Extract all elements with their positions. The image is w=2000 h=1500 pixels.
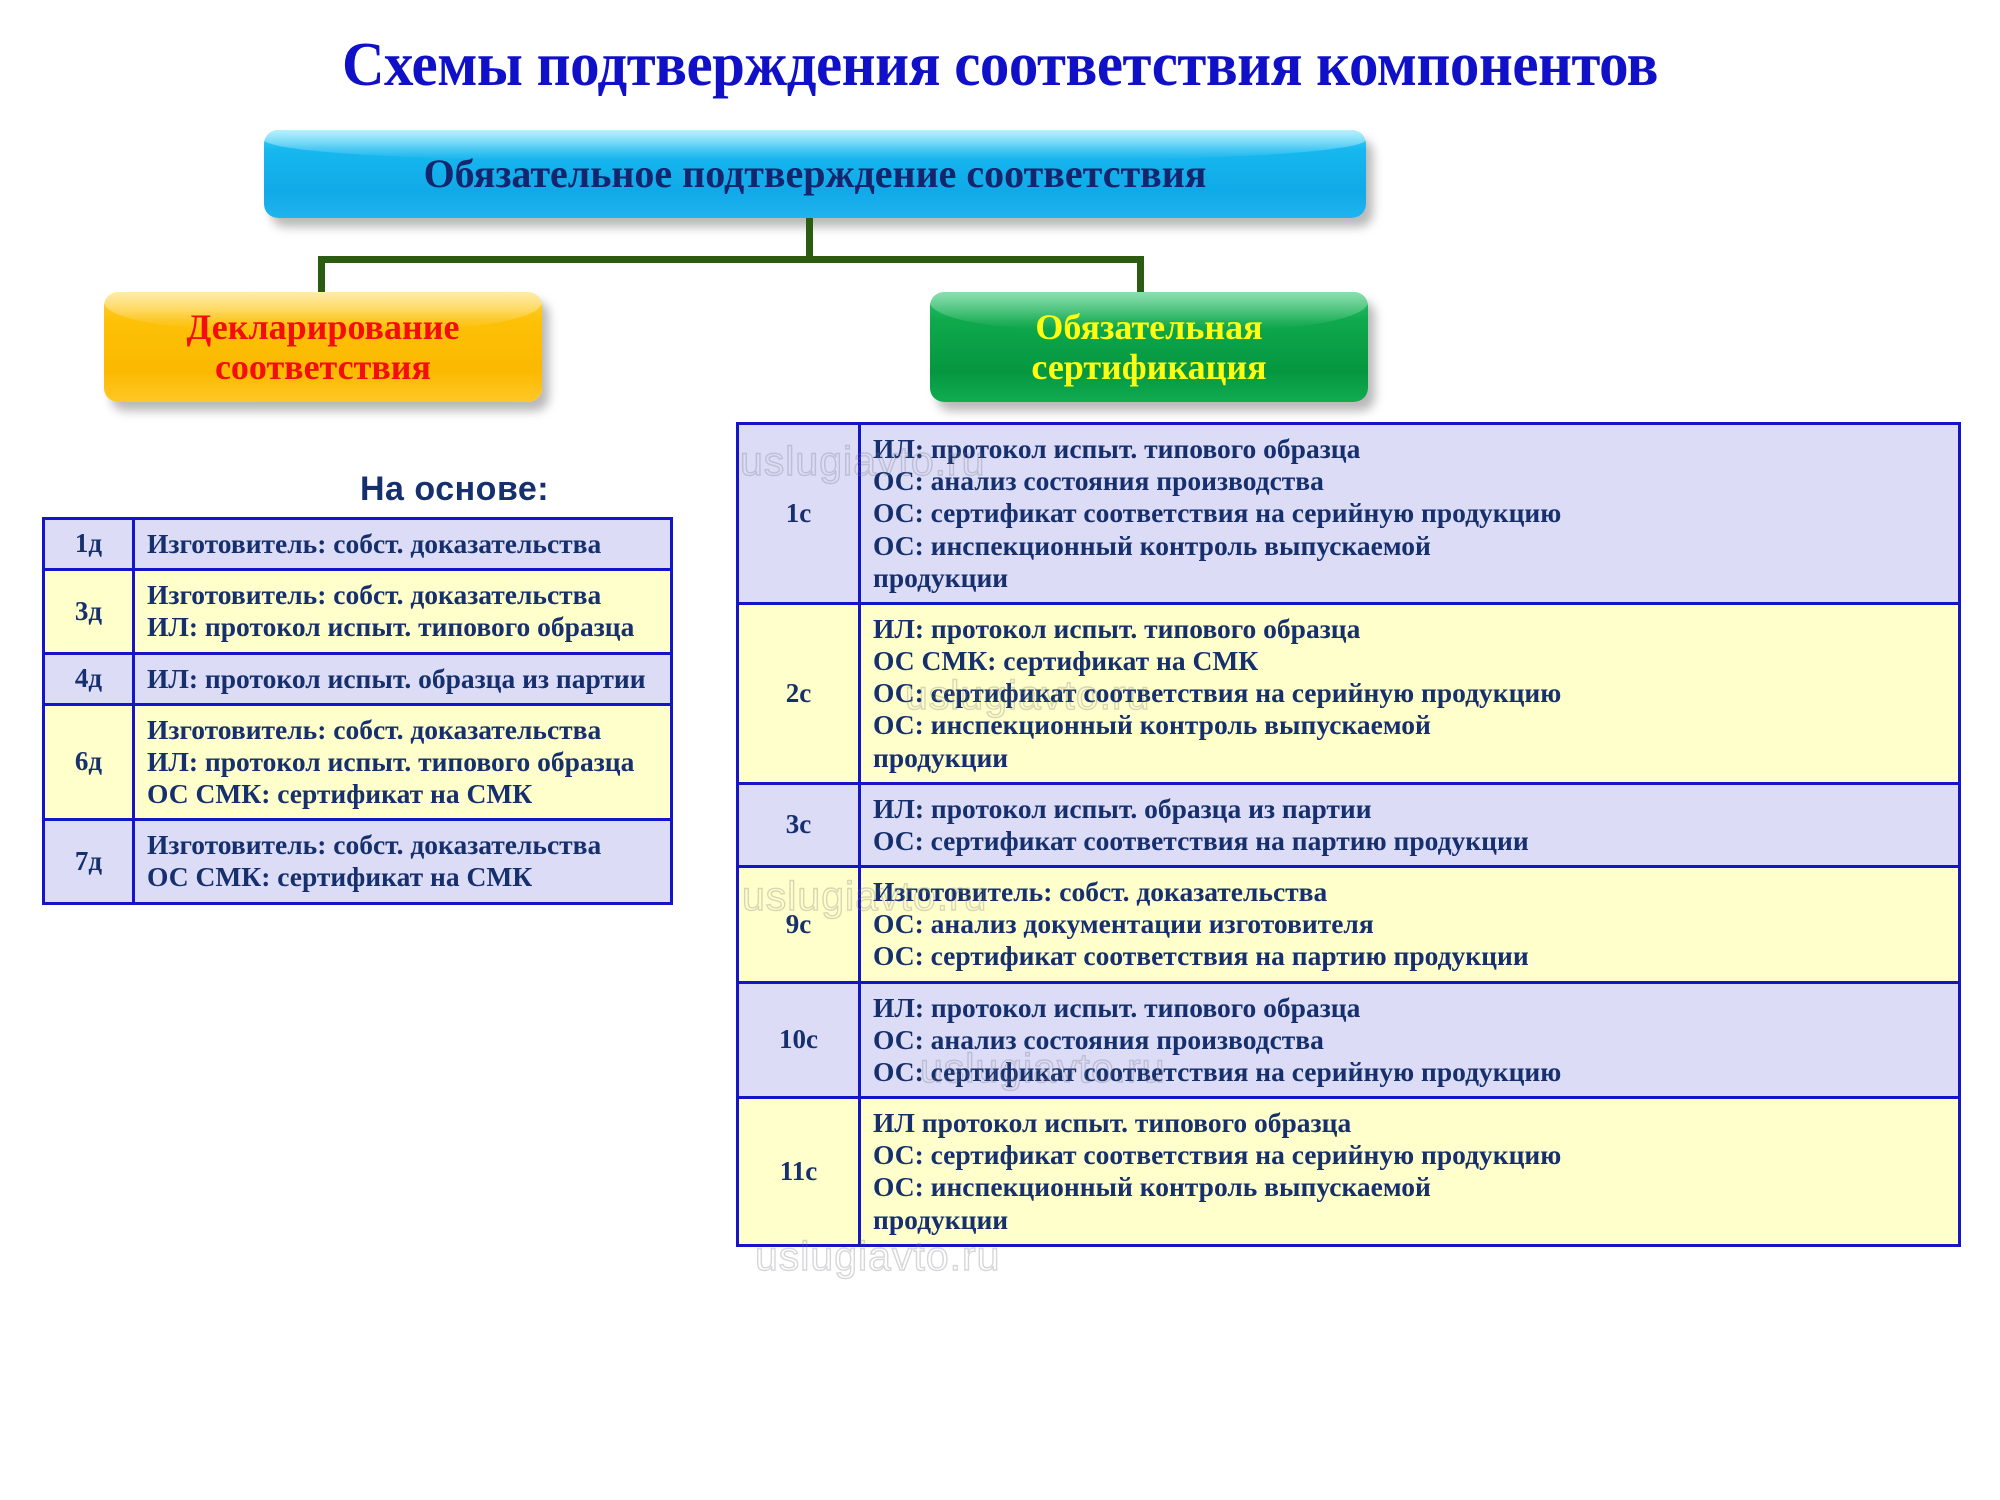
connector-vertical-right (1137, 256, 1144, 296)
declaration-scheme-description: Изготовитель: собст. доказательства (134, 519, 672, 570)
certification-scheme-code: 3с (738, 783, 860, 866)
certification-scheme-code: 9с (738, 867, 860, 983)
certification-label-line-2: сертификация (1031, 347, 1266, 387)
scheme-description-line: Изготовитель: собст. доказательства (147, 579, 658, 611)
scheme-description-line: ИЛ: протокол испыт. типового образца (873, 992, 1946, 1024)
declaration-scheme-code: 3д (44, 570, 134, 653)
scheme-description-line: ОС СМК: сертификат на СМК (147, 778, 658, 810)
table-row: 2сИЛ: протокол испыт. типового образцаОС… (738, 603, 1960, 783)
certification-scheme-description: ИЛ протокол испыт. типового образцаОС: с… (860, 1098, 1960, 1246)
flow-root-label: Обязательное подтверждение соответствия (406, 152, 1225, 197)
scheme-description-line: ИЛ протокол испыт. типового образца (873, 1107, 1946, 1139)
flow-branch-certification-label: Обязательная сертификация (1013, 307, 1284, 388)
declaration-scheme-description: ИЛ: протокол испыт. образца из партии (134, 653, 672, 704)
declaration-table-caption: На основе: (360, 470, 549, 509)
table-row: 3дИзготовитель: собст. доказательстваИЛ:… (44, 570, 672, 653)
connector-vertical-left (318, 256, 325, 296)
certification-scheme-description: ИЛ: протокол испыт. типового образцаОС: … (860, 982, 1960, 1098)
scheme-description-line: ОС: сертификат соответствия на серийную … (873, 497, 1946, 529)
scheme-description-line: ОС: сертификат соответствия на партию пр… (873, 940, 1946, 972)
declaration-label-line-2: соответствия (187, 347, 460, 387)
scheme-description-line: ОС: инспекционный контроль выпускаемой (873, 530, 1946, 562)
table-row: 7дИзготовитель: собст. доказательстваОС … (44, 820, 672, 903)
declaration-scheme-description: Изготовитель: собст. доказательстваИЛ: п… (134, 704, 672, 820)
slide-canvas: Схемы подтверждения соответствия компоне… (0, 0, 2000, 1500)
certification-scheme-description: ИЛ: протокол испыт. типового образцаОС С… (860, 603, 1960, 783)
scheme-description-line: Изготовитель: собст. доказательства (873, 876, 1946, 908)
certification-table-body: 1сИЛ: протокол испыт. типового образцаОС… (738, 424, 1960, 1246)
table-row: 4дИЛ: протокол испыт. образца из партии (44, 653, 672, 704)
table-row: 3сИЛ: протокол испыт. образца из партииО… (738, 783, 1960, 866)
scheme-description-line: ОС: сертификат соответствия на серийную … (873, 1056, 1946, 1088)
scheme-description-line: ОС: анализ документации изготовителя (873, 908, 1946, 940)
scheme-description-line: Изготовитель: собст. доказательства (147, 829, 658, 861)
declaration-scheme-code: 4д (44, 653, 134, 704)
scheme-description-line: ОС: инспекционный контроль выпускаемой (873, 709, 1946, 741)
certification-scheme-description: Изготовитель: собст. доказательстваОС: а… (860, 867, 1960, 983)
scheme-description-line: ОС: анализ состояния производства (873, 465, 1946, 497)
table-row: 1дИзготовитель: собст. доказательства (44, 519, 672, 570)
declaration-scheme-code: 1д (44, 519, 134, 570)
scheme-description-line: ОС: анализ состояния производства (873, 1024, 1946, 1056)
certification-schemes-table: 1сИЛ: протокол испыт. типового образцаОС… (736, 422, 1961, 1247)
scheme-description-line: продукции (873, 742, 1946, 774)
table-row: 11сИЛ протокол испыт. типового образцаОС… (738, 1098, 1960, 1246)
table-row: 9сИзготовитель: собст. доказательстваОС:… (738, 867, 1960, 983)
scheme-description-line: ОС СМК: сертификат на СМК (873, 645, 1946, 677)
certification-scheme-code: 1с (738, 424, 860, 604)
scheme-description-line: ИЛ: протокол испыт. образца из партии (873, 793, 1946, 825)
flow-root-box[interactable]: Обязательное подтверждение соответствия (264, 130, 1366, 218)
scheme-description-line: ИЛ: протокол испыт. типового образца (147, 611, 658, 643)
scheme-description-line: Изготовитель: собст. доказательства (147, 714, 658, 746)
scheme-description-line: Изготовитель: собст. доказательства (147, 528, 658, 560)
table-row: 10сИЛ: протокол испыт. типового образцаО… (738, 982, 1960, 1098)
scheme-description-line: ОС: сертификат соответствия на серийную … (873, 1139, 1946, 1171)
declaration-schemes-table: 1дИзготовитель: собст. доказательства3дИ… (42, 517, 673, 905)
flow-branch-declaration-label: Декларирование соответствия (169, 307, 478, 388)
certification-scheme-description: ИЛ: протокол испыт. образца из партииОС:… (860, 783, 1960, 866)
declaration-scheme-code: 7д (44, 820, 134, 903)
certification-scheme-code: 11с (738, 1098, 860, 1246)
table-row: 6дИзготовитель: собст. доказательстваИЛ:… (44, 704, 672, 820)
declaration-scheme-description: Изготовитель: собст. доказательстваОС СМ… (134, 820, 672, 903)
scheme-description-line: ОС СМК: сертификат на СМК (147, 861, 658, 893)
certification-scheme-description: ИЛ: протокол испыт. типового образцаОС: … (860, 424, 1960, 604)
scheme-description-line: ОС: сертификат соответствия на серийную … (873, 677, 1946, 709)
page-title: Схемы подтверждения соответствия компоне… (107, 30, 1893, 101)
connector-horizontal (318, 256, 1144, 263)
declaration-scheme-code: 6д (44, 704, 134, 820)
certification-label-line-1: Обязательная (1031, 307, 1266, 347)
certification-scheme-code: 2с (738, 603, 860, 783)
scheme-description-line: ИЛ: протокол испыт. типового образца (873, 433, 1946, 465)
declaration-label-line-1: Декларирование (187, 307, 460, 347)
scheme-description-line: ОС: сертификат соответствия на партию пр… (873, 825, 1946, 857)
scheme-description-line: ОС: инспекционный контроль выпускаемой (873, 1171, 1946, 1203)
scheme-description-line: ИЛ: протокол испыт. образца из партии (147, 663, 658, 695)
flow-branch-certification-box[interactable]: Обязательная сертификация (930, 292, 1368, 402)
declaration-scheme-description: Изготовитель: собст. доказательстваИЛ: п… (134, 570, 672, 653)
certification-scheme-code: 10с (738, 982, 860, 1098)
flow-branch-declaration-box[interactable]: Декларирование соответствия (104, 292, 542, 402)
scheme-description-line: ИЛ: протокол испыт. типового образца (147, 746, 658, 778)
table-row: 1сИЛ: протокол испыт. типового образцаОС… (738, 424, 1960, 604)
scheme-description-line: ИЛ: протокол испыт. типового образца (873, 613, 1946, 645)
scheme-description-line: продукции (873, 562, 1946, 594)
declaration-table-body: 1дИзготовитель: собст. доказательства3дИ… (44, 519, 672, 904)
scheme-description-line: продукции (873, 1204, 1946, 1236)
